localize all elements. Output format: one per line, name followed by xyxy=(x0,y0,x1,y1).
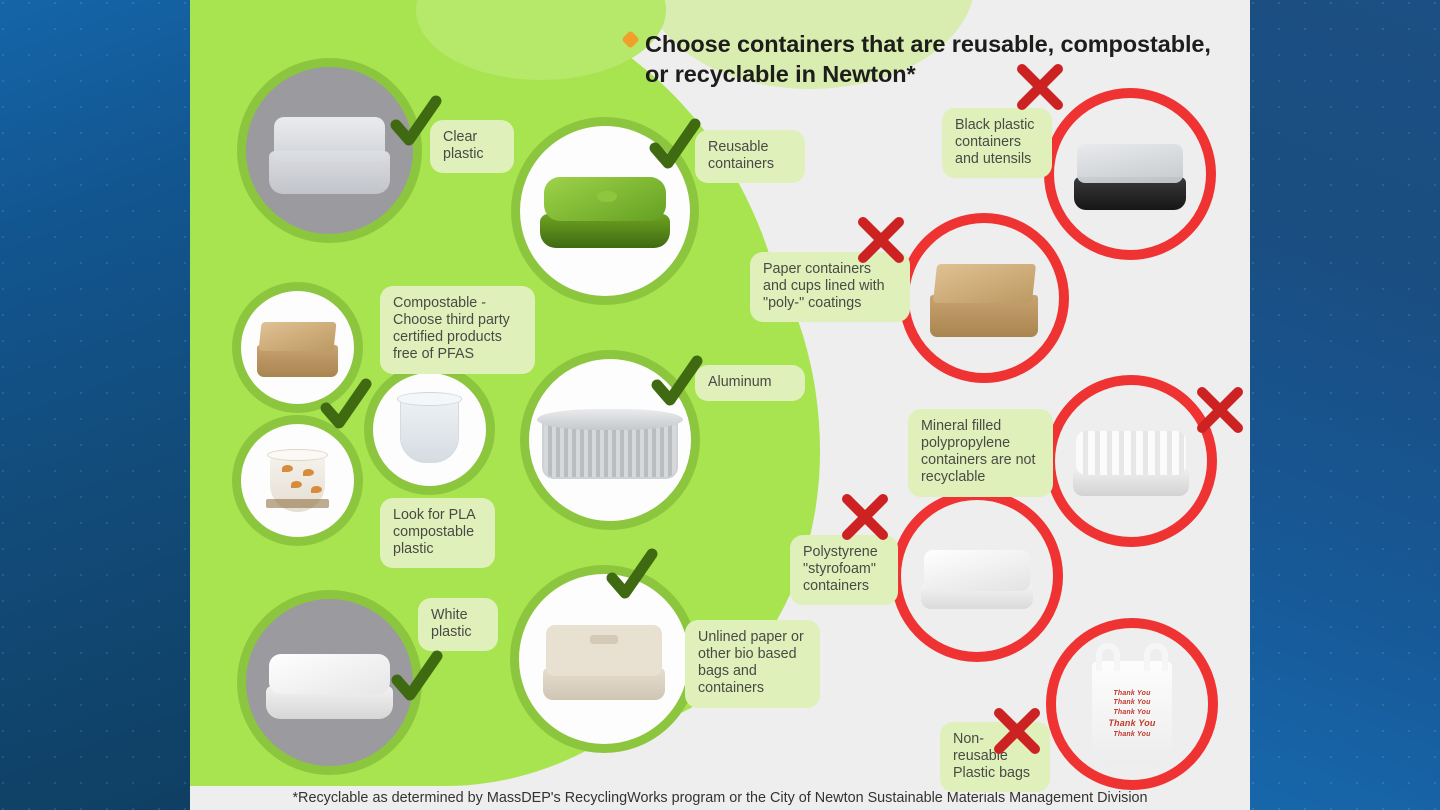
cross-mark-icon xyxy=(840,492,890,542)
footnote-text: *Recyclable as determined by MassDEP's R… xyxy=(190,790,1250,806)
plastic-shopping-bag-art: Thank YouThank YouThank YouThank YouThan… xyxy=(1056,628,1208,780)
plastic-bag-photo: Thank YouThank YouThank YouThank YouThan… xyxy=(1046,618,1218,790)
mineral-filled-pp-clamshell-art xyxy=(1055,385,1207,537)
page-title-line-1: Choose containers that are reusable, com… xyxy=(645,30,1250,60)
cross-mark-icon xyxy=(856,215,906,265)
styrofoam-container-photo xyxy=(891,490,1063,662)
check-mark-icon xyxy=(647,355,705,413)
styrofoam-container-art xyxy=(901,500,1053,652)
clear-pet-cup-art xyxy=(373,373,486,486)
poly-lined-paper-photo xyxy=(899,213,1069,383)
right-blue-background-panel xyxy=(1250,0,1440,810)
cross-mark-icon xyxy=(992,706,1042,756)
mineral-filled-pp-photo xyxy=(1045,375,1217,547)
label-white-plastic: White plastic xyxy=(418,598,498,651)
poly-lined-paper-box-art xyxy=(909,223,1059,373)
bag-printed-text: Thank YouThank YouThank YouThank YouThan… xyxy=(1099,689,1166,739)
cross-mark-icon xyxy=(1195,385,1245,435)
clear-pet-cup-photo xyxy=(364,364,495,495)
label-aluminum: Aluminum xyxy=(695,365,805,401)
label-black-plastic: Black plastic containers and utensils xyxy=(942,108,1052,178)
check-mark-icon xyxy=(387,650,445,708)
black-plastic-container-art xyxy=(1054,98,1206,250)
check-mark-icon xyxy=(316,378,374,436)
broadcast-screen: Choose containers that are reusable, com… xyxy=(0,0,1440,810)
label-polystyrene: Polystyrene "styrofoam" containers xyxy=(790,535,898,605)
check-mark-icon xyxy=(602,548,660,606)
page-title: Choose containers that are reusable, com… xyxy=(645,30,1250,90)
pla-compostable-cup-art xyxy=(241,424,354,537)
label-mineral-filled-pp: Mineral filled polypropylene containers … xyxy=(908,409,1053,497)
label-reusable-containers: Reusable containers xyxy=(695,130,805,183)
label-compostable-certified: Compostable - Choose third party certifi… xyxy=(380,286,535,374)
check-mark-icon xyxy=(645,118,703,176)
infographic-card: Choose containers that are reusable, com… xyxy=(190,0,1250,810)
cross-mark-icon xyxy=(1015,62,1065,112)
check-mark-icon xyxy=(386,95,444,153)
left-blue-background-panel xyxy=(0,0,190,810)
label-unlined-paper: Unlined paper or other bio based bags an… xyxy=(685,620,820,708)
page-title-line-2: or recyclable in Newton* xyxy=(645,60,1250,90)
label-pla-compostable-plastic: Look for PLA compostable plastic xyxy=(380,498,495,568)
black-plastic-photo xyxy=(1044,88,1216,260)
